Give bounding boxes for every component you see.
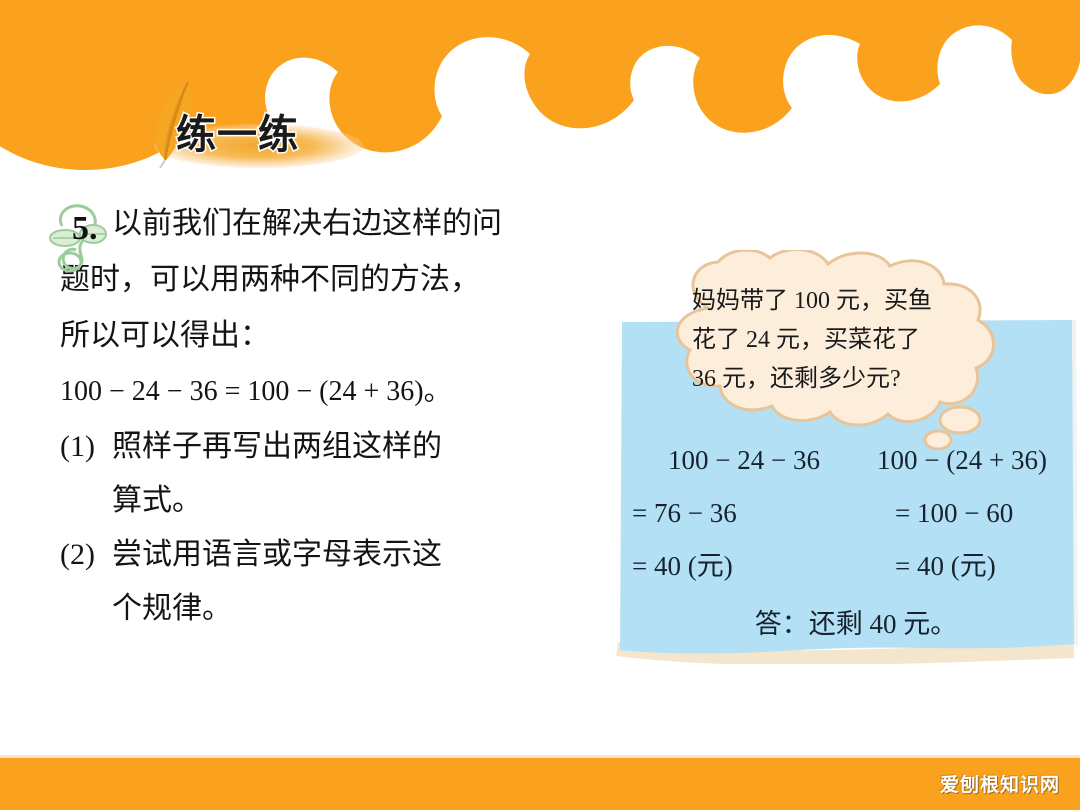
sub-item-1-body: 照样子再写出两组这样的 算式。: [112, 420, 630, 528]
question-equation: 100 − 24 − 36 = 100 − (24 + 36)。: [60, 364, 630, 420]
calc-col1-row3: = 40 (元): [630, 540, 855, 593]
bubble-line-2: 花了 24 元，买菜花了: [692, 321, 998, 360]
question-line-2: 题时，可以用两种不同的方法，: [60, 252, 630, 308]
calculation-columns: 100 − 24 − 36 = 76 − 36 = 40 (元) 100 − (…: [630, 434, 1080, 593]
thought-bubble-text: 妈妈带了 100 元，买鱼 花了 24 元，买菜花了 36 元，还剩多少元?: [692, 282, 998, 399]
section-title-text: 练一练: [176, 102, 299, 160]
question-block: 5. 以前我们在解决右边这样的问 题时，可以用两种不同的方法， 所以可以得出： …: [60, 196, 630, 636]
calc-col1-row2: = 76 − 36: [630, 487, 855, 540]
answer-line: 答：还剩 40 元。: [612, 602, 1080, 641]
footer-bar: 爱刨根知识网: [0, 758, 1080, 810]
question-line-1: 以前我们在解决右边这样的问: [60, 196, 630, 252]
question-number: 5.: [72, 210, 98, 248]
thought-bubble: 妈妈带了 100 元，买鱼 花了 24 元，买菜花了 36 元，还剩多少元?: [648, 250, 1040, 450]
bubble-line-3: 36 元，还剩多少元?: [692, 360, 998, 399]
sub-item-2-body: 尝试用语言或字母表示这 个规律。: [112, 528, 630, 636]
calc-col2-row3: = 40 (元): [855, 540, 1080, 593]
sub-item-1-line-1: 照样子再写出两组这样的: [112, 420, 630, 474]
question-line-3: 所以可以得出：: [60, 308, 630, 364]
calc-col2-row2: = 100 − 60: [855, 487, 1080, 540]
sub-item-1: (1) 照样子再写出两组这样的 算式。: [60, 420, 630, 528]
slide-page: 练一练 5. 以前我们在解决右边这样的问 题时，可以用两种不同的方法， 所以可以…: [0, 0, 1080, 810]
sub-item-1-marker: (1): [60, 420, 112, 528]
sub-item-2-line-2: 个规律。: [112, 582, 630, 636]
sub-item-2-marker: (2): [60, 528, 112, 636]
sub-item-2-line-1: 尝试用语言或字母表示这: [112, 528, 630, 582]
bubble-line-1: 妈妈带了 100 元，买鱼: [692, 282, 998, 321]
sub-item-1-line-2: 算式。: [112, 474, 630, 528]
calculation-column-2: 100 − (24 + 36) = 100 − 60 = 40 (元): [855, 434, 1080, 593]
site-watermark: 爱刨根知识网: [940, 770, 1060, 797]
calculation-column-1: 100 − 24 − 36 = 76 − 36 = 40 (元): [630, 434, 855, 593]
sub-item-2: (2) 尝试用语言或字母表示这 个规律。: [60, 528, 630, 636]
section-title: 练一练: [140, 78, 400, 174]
